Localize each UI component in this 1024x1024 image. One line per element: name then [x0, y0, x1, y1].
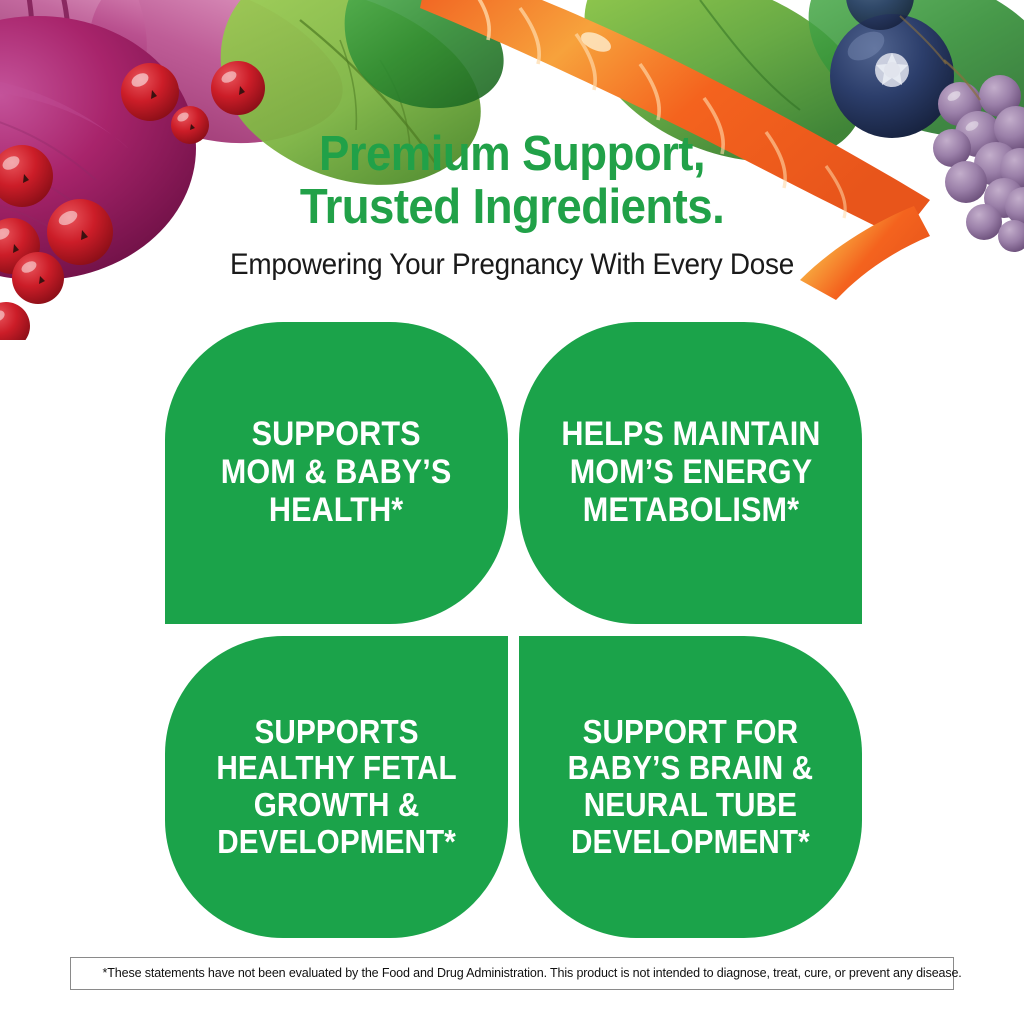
page-title-line2: Trusted Ingredients.: [36, 181, 988, 234]
benefit-card-label: HELPS MAINTAIN MOM’S ENERGY METABOLISM*: [561, 416, 820, 529]
blueberry-illustration: [830, 0, 954, 138]
benefit-card-label: SUPPORT FOR BABY’S BRAIN & NEURAL TUBE D…: [568, 714, 813, 861]
fda-disclaimer-box: *These statements have not been evaluate…: [70, 957, 954, 990]
benefit-card-mom-baby-health: SUPPORTS MOM & BABY’S HEALTH*: [165, 322, 508, 624]
benefit-cards-grid: SUPPORTS MOM & BABY’S HEALTH* HELPS MAIN…: [165, 322, 862, 938]
product-benefits-infographic: Premium Support, Trusted Ingredients. Em…: [0, 0, 1024, 1024]
page-subtitle: Empowering Your Pregnancy With Every Dos…: [36, 248, 988, 281]
benefit-card-fetal-growth: SUPPORTS HEALTHY FETAL GROWTH & DEVELOPM…: [165, 636, 508, 938]
benefit-card-label: SUPPORTS HEALTHY FETAL GROWTH & DEVELOPM…: [216, 714, 456, 861]
benefit-card-label: SUPPORTS MOM & BABY’S HEALTH*: [221, 416, 452, 529]
fda-disclaimer-text: *These statements have not been evaluate…: [103, 965, 922, 981]
headline-block: Premium Support, Trusted Ingredients. Em…: [0, 128, 1024, 281]
benefit-card-energy-metabolism: HELPS MAINTAIN MOM’S ENERGY METABOLISM*: [519, 322, 862, 624]
page-title-line1: Premium Support,: [36, 128, 988, 181]
benefit-card-brain-neural-tube: SUPPORT FOR BABY’S BRAIN & NEURAL TUBE D…: [519, 636, 862, 938]
